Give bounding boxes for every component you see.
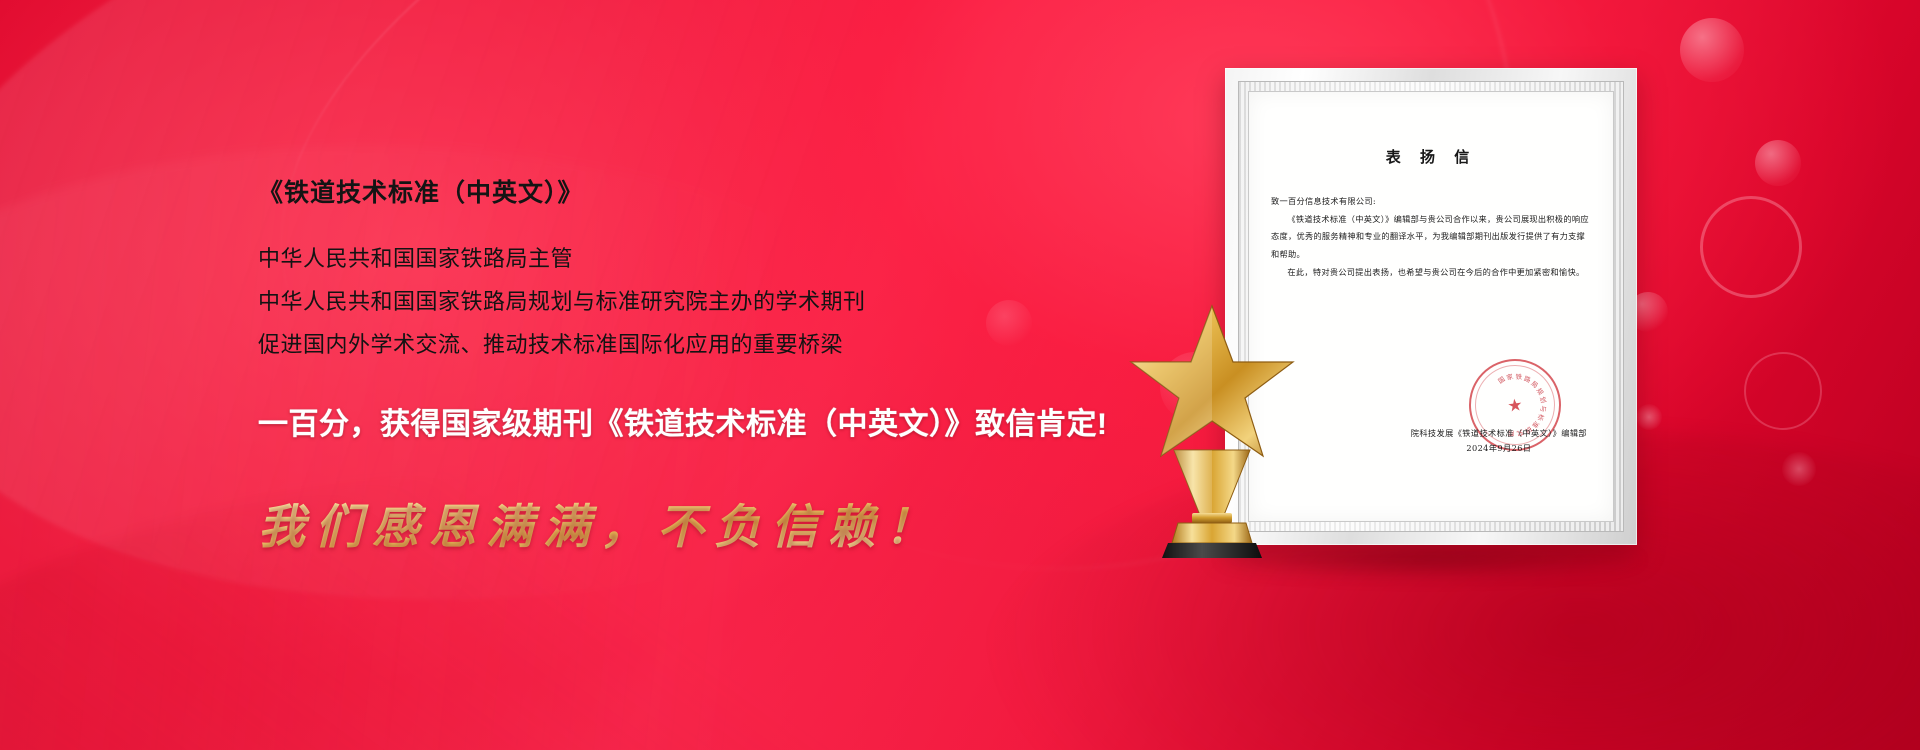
bokeh-circle-icon — [1755, 140, 1801, 186]
bokeh-circle-icon — [1700, 196, 1802, 298]
bokeh-circle-icon — [1680, 18, 1744, 82]
description-line-3: 促进国内外学术交流、推动技术标准国际化应用的重要桥梁 — [258, 334, 1178, 356]
promotional-banner: 《铁道技术标准（中英文）》 中华人民共和国国家铁路局主管 中华人民共和国国家铁路… — [0, 0, 1920, 750]
certificate-paragraph-1: 《铁道技术标准（中英文）》编辑部与贵公司合作以来，贵公司展现出积极的响应态度，优… — [1271, 211, 1591, 264]
bokeh-circle-icon — [1636, 404, 1662, 430]
calligraphy-slogan: 我们感恩满满，不负信赖！ — [258, 488, 1178, 557]
bokeh-circle-icon — [1744, 352, 1822, 430]
banner-headline: 一百分，获得国家级期刊《铁道技术标准（中英文）》致信肯定! — [258, 406, 1178, 444]
certificate-salutation: 致一百分信息技术有限公司: — [1271, 193, 1591, 211]
certificate-body: 致一百分信息技术有限公司: 《铁道技术标准（中英文）》编辑部与贵公司合作以来，贵… — [1271, 193, 1591, 281]
banner-copy-block: 《铁道技术标准（中英文）》 中华人民共和国国家铁路局主管 中华人民共和国国家铁路… — [258, 178, 1178, 557]
journal-title: 《铁道技术标准（中英文）》 — [258, 178, 1178, 208]
certificate-date: 2024年9月26日 — [1411, 441, 1587, 457]
description-line-1: 中华人民共和国国家铁路局主管 — [258, 248, 1178, 270]
trophy-star-icon — [1112, 300, 1312, 560]
bokeh-circle-icon — [1782, 452, 1816, 486]
certificate-title: 表 扬 信 — [1271, 146, 1591, 167]
description-line-2: 中华人民共和国国家铁路局规划与标准研究院主办的学术期刊 — [258, 291, 1178, 313]
certificate-signature-block: 院科技发展《铁道技术标准（中英文）》编辑部 2024年9月26日 — [1411, 426, 1587, 457]
certificate-signature: 院科技发展《铁道技术标准（中英文）》编辑部 — [1411, 426, 1587, 442]
certificate-paragraph-2: 在此，特对贵公司提出表扬，也希望与贵公司在今后的合作中更加紧密和愉快。 — [1271, 264, 1591, 282]
